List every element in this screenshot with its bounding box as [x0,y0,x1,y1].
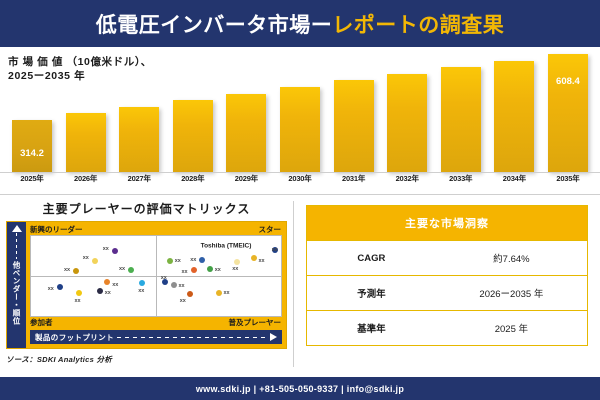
bar: 314.2 [12,120,52,172]
matrix-data-point-label: xx [223,290,229,296]
key-insights-table: 主要な市場洞察 CAGR約7.64%予測年2026ー2035 年基準年2025 … [306,205,588,346]
insights-row: CAGR約7.64% [307,241,588,276]
matrix-data-point [171,282,177,288]
x-axis-tick-label: 2033年 [441,173,481,187]
matrix-inner: 新興のリーダー スター 参加者 普及プレーヤー xxxxxxxxxxxxxxxx… [26,222,286,348]
matrix-data-point-label: xx [232,266,238,272]
arrow-up-icon [12,225,22,232]
insights-row-key: 予測年 [307,276,436,311]
lower-section: 主要プレーヤーの評価マトリックス 他ベンダー・順位 新興のリーダー スター 参加… [0,194,600,377]
bar-column [441,54,481,172]
matrix-data-point-label: xx [74,298,80,304]
bar: 608.4 [548,54,588,172]
matrix-scatter-grid: xxxxxxxxxxxxxxxxxxxxxxxxxxxxxxxxxxxxxxxx… [30,235,282,317]
bar [387,74,427,172]
bar-column [226,54,266,172]
matrix-data-point [207,266,213,272]
insights-row-key: CAGR [307,241,436,276]
bar-value-label: 314.2 [12,148,52,159]
bar [280,87,320,172]
x-axis-tick-label: 2026年 [66,173,106,187]
x-axis-tick-label: 2031年 [334,173,374,187]
key-insights-heading: 主要な市場洞察 [307,206,588,241]
matrix-data-point-label: xx [48,286,54,292]
matrix-horizontal-divider [31,276,281,277]
insights-row-key: 基準年 [307,311,436,346]
market-value-bar-chart: 市 場 価 値 （10億米ドル）、 2025ー2035 年 314.2608.4… [0,47,600,194]
matrix-data-point [167,258,173,264]
bar-column: 608.4 [548,54,588,172]
matrix-y-axis-dashes [16,233,17,259]
bar [119,107,159,172]
matrix-data-point [128,267,134,273]
bar-column [387,54,427,172]
chart-title: 市 場 価 値 （10億米ドル）、 2025ー2035 年 [8,55,152,83]
matrix-data-point [73,268,79,274]
page-title-primary: 低電圧インバータ市場ー [96,14,333,37]
insights-row: 基準年2025 年 [307,311,588,346]
matrix-data-point-label: xx [190,257,196,263]
page-footer: www.sdki.jp | +81-505-050-9337 | info@sd… [0,377,600,400]
matrix-data-point [92,258,98,264]
x-axis-tick-label: 2030年 [280,173,320,187]
matrix-data-point [76,290,82,296]
matrix-data-point-label: xx [105,290,111,296]
matrix-title: 主要プレーヤーの評価マトリックス [6,200,287,217]
bar-column [173,54,213,172]
matrix-data-point-label: xx [138,288,144,294]
chart-x-axis: 2025年2026年2027年2028年2029年2030年2031年2032年… [0,173,600,187]
matrix-data-point [112,248,118,254]
x-axis-tick-label: 2027年 [119,173,159,187]
matrix-data-point-label: xx [175,258,181,264]
x-axis-tick-label: 2029年 [226,173,266,187]
bar-column [334,54,374,172]
matrix-data-point [191,267,197,273]
bar [494,61,534,172]
x-axis-tick-label: 2025年 [12,173,52,187]
matrix-data-point [104,279,110,285]
insights-row-value: 約7.64% [436,241,588,276]
quadrant-label-participants: 参加者 [30,317,53,328]
matrix-data-point [57,284,63,290]
page-title-accent: レポートの調査果 [332,14,504,37]
evaluation-matrix-panel: 主要プレーヤーの評価マトリックス 他ベンダー・順位 新興のリーダー スター 参加… [0,195,293,377]
matrix-data-point-label: xx [178,283,184,289]
insights-row: 予測年2026ー2035 年 [307,276,588,311]
matrix-data-point-label: xx [119,266,125,272]
bar-column [494,54,534,172]
quadrant-label-stars: スター [259,224,282,235]
bar [226,94,266,172]
chart-title-line2: 2025ー2035 年 [8,69,152,83]
insights-row-value: 2025 年 [436,311,588,346]
matrix-data-point [199,257,205,263]
matrix-data-point [216,290,222,296]
footer-contact-text: www.sdki.jp | +81-505-050-9337 | info@sd… [196,384,404,394]
matrix-data-point-label: xx [272,247,278,253]
matrix-x-axis-dashes [117,337,267,338]
insights-row-value: 2026ー2035 年 [436,276,588,311]
x-axis-tick-label: 2028年 [173,173,213,187]
x-axis-tick-label: 2034年 [494,173,534,187]
matrix-data-point-label: xx [64,267,70,273]
matrix-y-axis: 他ベンダー・順位 [7,222,26,348]
bar [441,67,481,172]
bar [334,80,374,172]
matrix-data-point-label: xx [112,282,118,288]
matrix-data-point-label: xx [258,258,264,264]
bar [66,113,106,172]
x-axis-tick-label: 2032年 [387,173,427,187]
bar [173,100,213,172]
matrix-data-point [139,280,145,286]
quadrant-label-emerging-leaders: 新興のリーダー [30,224,83,235]
matrix-highlight-company-label: Toshiba (TMEIC) [201,242,252,249]
matrix-data-point [234,259,240,265]
page-header: 低電圧インバータ市場ーレポートの調査果 [0,0,600,47]
chart-title-line1: 市 場 価 値 （10億米ドル）、 [8,55,152,69]
page-title: 低電圧インバータ市場ーレポートの調査果 [96,9,505,39]
matrix-data-point [187,291,193,297]
matrix-graphic: 他ベンダー・順位 新興のリーダー スター 参加者 普及プレーヤー xxxxxxx… [6,221,287,349]
matrix-data-point [251,255,257,261]
matrix-data-point-label: xx [215,267,221,273]
matrix-x-axis-label: 製品のフットプリント [35,332,114,343]
matrix-data-point-label: xx [161,275,167,281]
matrix-data-point [97,288,103,294]
matrix-data-point-label: xx [83,255,89,261]
matrix-y-axis-label: 他ベンダー・順位 [11,261,22,325]
quadrant-label-pervasive: 普及プレーヤー [229,317,282,328]
matrix-data-point-label: xx [181,269,187,275]
matrix-x-axis: 製品のフットプリント [30,330,282,344]
arrow-right-icon [270,333,277,341]
matrix-data-point-label: xx [103,246,109,252]
source-note: ソース：SDKI Analytics 分析 [6,354,287,365]
bar-column [280,54,320,172]
key-insights-panel: 主要な市場洞察 CAGR約7.64%予測年2026ー2035 年基準年2025 … [294,195,600,377]
x-axis-tick-label: 2035年 [548,173,588,187]
bar-value-label: 608.4 [548,76,588,87]
matrix-data-point-label: xx [180,298,186,304]
